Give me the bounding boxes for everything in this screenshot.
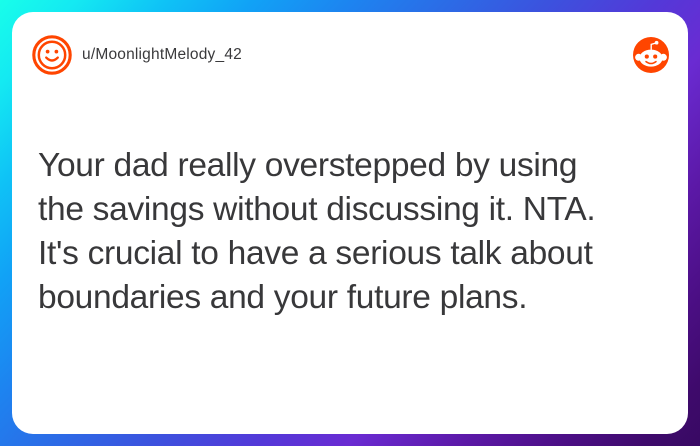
screenshot-root: u/MoonlightMelody_42 [0, 0, 700, 446]
post-body-line: Your dad really overstepped by using [38, 144, 664, 188]
post-body-line: the savings without discussing it. NTA. [38, 188, 664, 232]
post-body: Your dad really overstepped by using the… [38, 144, 664, 320]
post-body-line: It's crucial to have a serious talk abou… [38, 232, 664, 276]
reddit-post-card: u/MoonlightMelody_42 [12, 12, 688, 434]
post-header: u/MoonlightMelody_42 [12, 12, 688, 98]
reddit-snoo-logo-icon [633, 37, 669, 73]
avatar[interactable] [32, 35, 72, 75]
username-label: u/MoonlightMelody_42 [82, 46, 242, 64]
post-body-line: boundaries and your future plans. [38, 276, 664, 320]
